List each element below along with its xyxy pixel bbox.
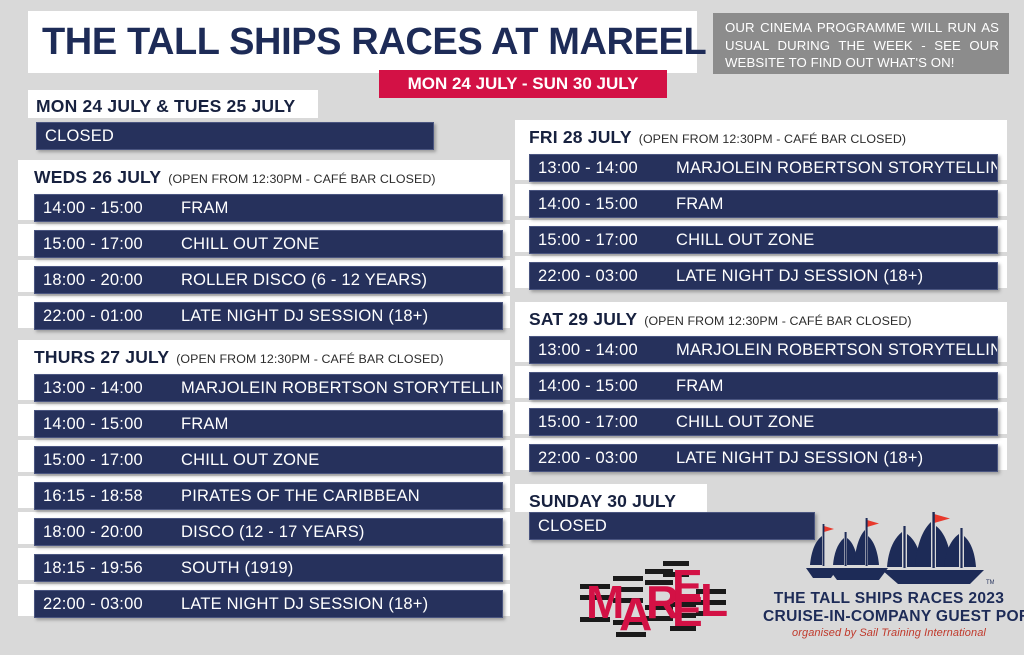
- row-time: 22:00 - 03:00: [530, 267, 676, 286]
- day-name-fri: FRI 28 JULY: [529, 127, 632, 148]
- day-note-fri: (OPEN FROM 12:30PM - CAFÉ BAR CLOSED): [639, 132, 906, 146]
- poster-root: THE TALL SHIPS RACES AT MAREEL MON 24 JU…: [0, 0, 1024, 655]
- row-time: 22:00 - 01:00: [35, 307, 181, 326]
- schedule-row: 22:00 - 03:00 LATE NIGHT DJ SESSION (18+…: [34, 590, 503, 618]
- row-event: CHILL OUT ZONE: [676, 413, 815, 432]
- row-time: 15:00 - 17:00: [530, 231, 676, 250]
- row-event: FRAM: [676, 377, 724, 396]
- svg-text:L: L: [700, 574, 728, 626]
- row-time: 14:00 - 15:00: [35, 415, 181, 434]
- row-event: LATE NIGHT DJ SESSION (18+): [181, 307, 428, 326]
- day-name-thurs: THURS 27 JULY: [34, 347, 169, 368]
- row-event: CHILL OUT ZONE: [181, 451, 320, 470]
- row-event: CHILL OUT ZONE: [181, 235, 320, 254]
- cinema-notice-text: OUR CINEMA PROGRAMME WILL RUN AS USUAL D…: [725, 19, 999, 72]
- date-range-label: MON 24 JULY - SUN 30 JULY: [408, 74, 639, 94]
- schedule-row: 15:00 - 17:00 CHILL OUT ZONE: [529, 408, 998, 436]
- tsr-line-1: THE TALL SHIPS RACES 2023: [763, 590, 1015, 608]
- svg-text:E: E: [672, 584, 703, 636]
- row-event: ROLLER DISCO (6 - 12 YEARS): [181, 271, 427, 290]
- row-time: 15:00 - 17:00: [35, 451, 181, 470]
- schedule-row: 18:00 - 20:00 ROLLER DISCO (6 - 12 YEARS…: [34, 266, 503, 294]
- row-time: 13:00 - 14:00: [530, 341, 676, 360]
- schedule-row: 14:00 - 15:00 FRAM: [34, 410, 503, 438]
- day-header-thurs: THURS 27 JULY (OPEN FROM 12:30PM - CAFÉ …: [34, 347, 444, 368]
- day-note-weds: (OPEN FROM 12:30PM - CAFÉ BAR CLOSED): [168, 172, 435, 186]
- schedule-row: 18:00 - 20:00 DISCO (12 - 17 YEARS): [34, 518, 503, 546]
- schedule-row: 22:00 - 03:00 LATE NIGHT DJ SESSION (18+…: [529, 444, 998, 472]
- day-note-sat: (OPEN FROM 12:30PM - CAFÉ BAR CLOSED): [644, 314, 911, 328]
- day-note-thurs: (OPEN FROM 12:30PM - CAFÉ BAR CLOSED): [176, 352, 443, 366]
- tall-ships-icon: TM: [784, 512, 994, 590]
- row-time: 14:00 - 15:00: [530, 195, 676, 214]
- cinema-notice-box: OUR CINEMA PROGRAMME WILL RUN AS USUAL D…: [713, 13, 1009, 74]
- row-time: 14:00 - 15:00: [530, 377, 676, 396]
- tall-ships-races-logo: TM THE TALL SHIPS RACES 2023 CRUISE-IN-C…: [763, 512, 1015, 648]
- day-header-fri: FRI 28 JULY (OPEN FROM 12:30PM - CAFÉ BA…: [529, 127, 906, 148]
- row-event: LATE NIGHT DJ SESSION (18+): [676, 449, 923, 468]
- row-time: 13:00 - 14:00: [35, 379, 181, 398]
- row-time: 22:00 - 03:00: [35, 595, 181, 614]
- schedule-row: 22:00 - 03:00 LATE NIGHT DJ SESSION (18+…: [529, 262, 998, 290]
- day-name-sat: SAT 29 JULY: [529, 309, 637, 330]
- row-event: MARJOLEIN ROBERTSON STORYTELLING: [676, 341, 998, 360]
- day-header-sat: SAT 29 JULY (OPEN FROM 12:30PM - CAFÉ BA…: [529, 309, 912, 330]
- row-time: 18:00 - 20:00: [35, 271, 181, 290]
- row-time: 14:00 - 15:00: [35, 199, 181, 218]
- schedule-row: 18:15 - 19:56 SOUTH (1919): [34, 554, 503, 582]
- row-time: 18:15 - 19:56: [35, 559, 181, 578]
- tsr-line-2: CRUISE-IN-COMPANY GUEST PORT: [763, 608, 1015, 626]
- row-event: MARJOLEIN ROBERTSON STORYTELLING: [676, 159, 998, 178]
- row-event: DISCO (12 - 17 YEARS): [181, 523, 365, 542]
- row-event: CHILL OUT ZONE: [676, 231, 815, 250]
- tsr-line-3: organised by Sail Training International: [763, 627, 1015, 639]
- row-event: FRAM: [181, 199, 229, 218]
- trademark-mark: TM: [986, 580, 994, 586]
- row-status: CLOSED: [530, 517, 607, 536]
- day-name-sunday: SUNDAY 30 JULY: [529, 491, 676, 512]
- schedule-row: 13:00 - 14:00 MARJOLEIN ROBERTSON STORYT…: [34, 374, 503, 402]
- day-header-weds: WEDS 26 JULY (OPEN FROM 12:30PM - CAFÉ B…: [34, 167, 436, 188]
- schedule-row: 15:00 - 17:00 CHILL OUT ZONE: [34, 446, 503, 474]
- date-range-banner: MON 24 JULY - SUN 30 JULY: [379, 70, 667, 98]
- row-time: 18:00 - 20:00: [35, 523, 181, 542]
- day-header-mon-tues: MON 24 JULY & TUES 25 JULY: [36, 96, 295, 117]
- day-header-sunday: SUNDAY 30 JULY: [529, 491, 676, 512]
- row-event: LATE NIGHT DJ SESSION (18+): [181, 595, 428, 614]
- row-status: CLOSED: [37, 127, 114, 146]
- schedule-row: 15:00 - 17:00 CHILL OUT ZONE: [529, 226, 998, 254]
- row-event: FRAM: [181, 415, 229, 434]
- row-time: 15:00 - 17:00: [530, 413, 676, 432]
- schedule-row-mon-tues-closed: CLOSED: [36, 122, 434, 150]
- schedule-row: 14:00 - 15:00 FRAM: [529, 190, 998, 218]
- row-event: SOUTH (1919): [181, 559, 293, 578]
- schedule-row: 16:15 - 18:58 PIRATES OF THE CARIBBEAN: [34, 482, 503, 510]
- row-event: LATE NIGHT DJ SESSION (18+): [676, 267, 923, 286]
- day-name-mon-tues: MON 24 JULY & TUES 25 JULY: [36, 96, 295, 117]
- schedule-row: 14:00 - 15:00 FRAM: [34, 194, 503, 222]
- page-title: THE TALL SHIPS RACES AT MAREEL: [28, 21, 706, 64]
- row-time: 13:00 - 14:00: [530, 159, 676, 178]
- schedule-row: 13:00 - 14:00 MARJOLEIN ROBERTSON STORYT…: [529, 336, 998, 364]
- row-time: 15:00 - 17:00: [35, 235, 181, 254]
- title-banner: THE TALL SHIPS RACES AT MAREEL: [28, 11, 697, 73]
- schedule-row: 15:00 - 17:00 CHILL OUT ZONE: [34, 230, 503, 258]
- row-time: 22:00 - 03:00: [530, 449, 676, 468]
- row-event: FRAM: [676, 195, 724, 214]
- row-time: 16:15 - 18:58: [35, 487, 181, 506]
- row-event: PIRATES OF THE CARIBBEAN: [181, 487, 420, 506]
- schedule-row: 14:00 - 15:00 FRAM: [529, 372, 998, 400]
- day-name-weds: WEDS 26 JULY: [34, 167, 161, 188]
- schedule-row: 13:00 - 14:00 MARJOLEIN ROBERTSON STORYT…: [529, 154, 998, 182]
- mareel-logo: M A R E E L: [578, 556, 738, 642]
- schedule-row: 22:00 - 01:00 LATE NIGHT DJ SESSION (18+…: [34, 302, 503, 330]
- row-event: MARJOLEIN ROBERTSON STORYTELLING: [181, 379, 503, 398]
